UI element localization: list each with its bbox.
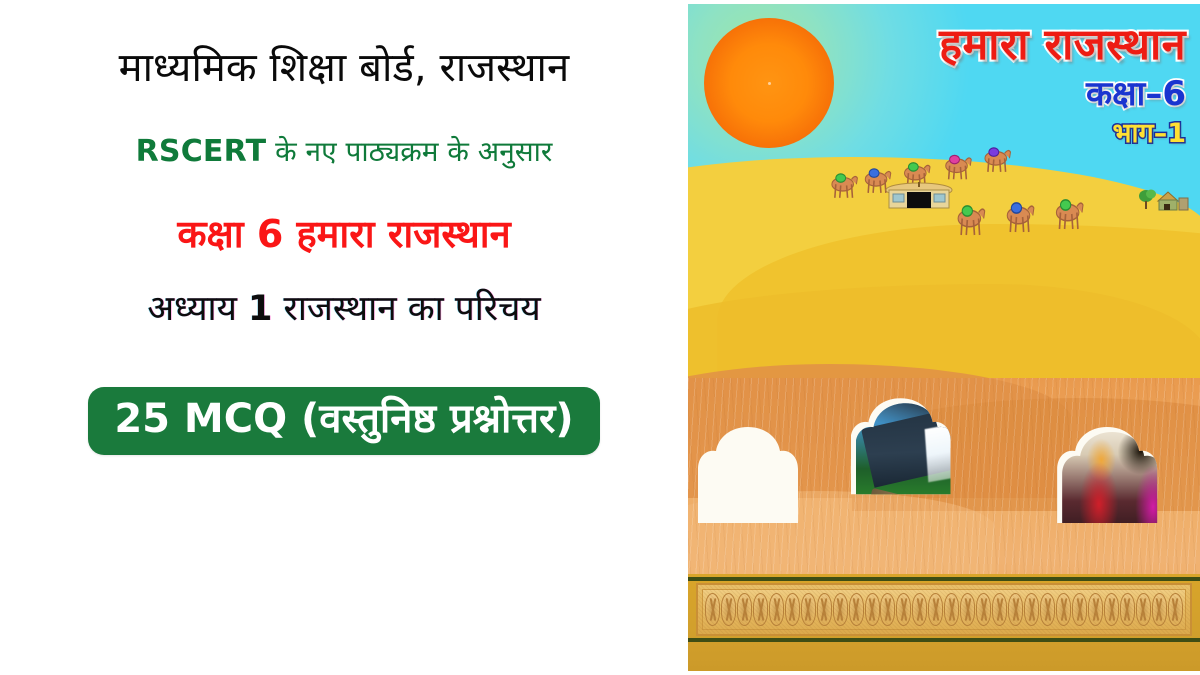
photo-folk-dancers — [698, 423, 831, 574]
photo-dam — [851, 394, 1038, 574]
photo-folk-dancers-image — [703, 428, 826, 574]
chapter-title: अध्याय 1 राजस्थान का परिचय — [14, 290, 674, 329]
poster-root: माध्यमिक शिक्षा बोर्ड, राजस्थान RSCERT क… — [0, 0, 1200, 675]
book-cover-canvas: हमारा राजस्थान कक्षा–6 भाग–1 — [688, 4, 1200, 671]
band-rule-bottom — [688, 638, 1200, 642]
photo-dam-image — [856, 399, 1033, 574]
photo-folk-dancers-frame — [703, 428, 826, 574]
book-cover-image: हमारा राजस्थान कक्षा–6 भाग–1 — [688, 0, 1200, 675]
village-icon — [1138, 187, 1190, 213]
carved-jali-band — [696, 583, 1192, 635]
dam-road — [870, 488, 979, 523]
camel-group-mid — [954, 187, 1108, 247]
cover-photo-row — [688, 394, 1200, 574]
syllabus-acronym: RSCERT — [136, 134, 267, 169]
mcq-count-badge: 25 MCQ (वस्तुनिष्ठ प्रश्नोत्तर) — [88, 387, 599, 455]
band-texture — [698, 585, 1190, 633]
photo-temple-festival-frame — [1062, 428, 1185, 574]
board-title: माध्यमिक शिक्षा बोर्ड, राजस्थान — [14, 46, 674, 91]
photo-temple-festival — [1057, 423, 1190, 574]
hut-icon — [883, 181, 955, 211]
dam-spillway — [925, 418, 988, 481]
chapter-number: 1 — [248, 289, 272, 329]
syllabus-rest: के नए पाठ्यक्रम के अनुसार — [266, 135, 552, 168]
photo-temple-festival-image — [1062, 428, 1185, 574]
sun-icon — [704, 18, 834, 148]
chapter-prefix: अध्याय — [147, 289, 248, 329]
syllabus-line: RSCERT के नए पाठ्यक्रम के अनुसार — [14, 135, 674, 170]
photo-dam-frame — [856, 399, 1033, 574]
chapter-suffix: राजस्थान का परिचय — [272, 289, 540, 329]
left-text-panel: माध्यमिक शिक्षा बोर्ड, राजस्थान RSCERT क… — [0, 0, 688, 675]
ornament-band-zone — [688, 574, 1200, 671]
band-rule-top — [688, 577, 1200, 581]
class-subject-title: कक्षा 6 हमारा राजस्थान — [14, 213, 674, 256]
